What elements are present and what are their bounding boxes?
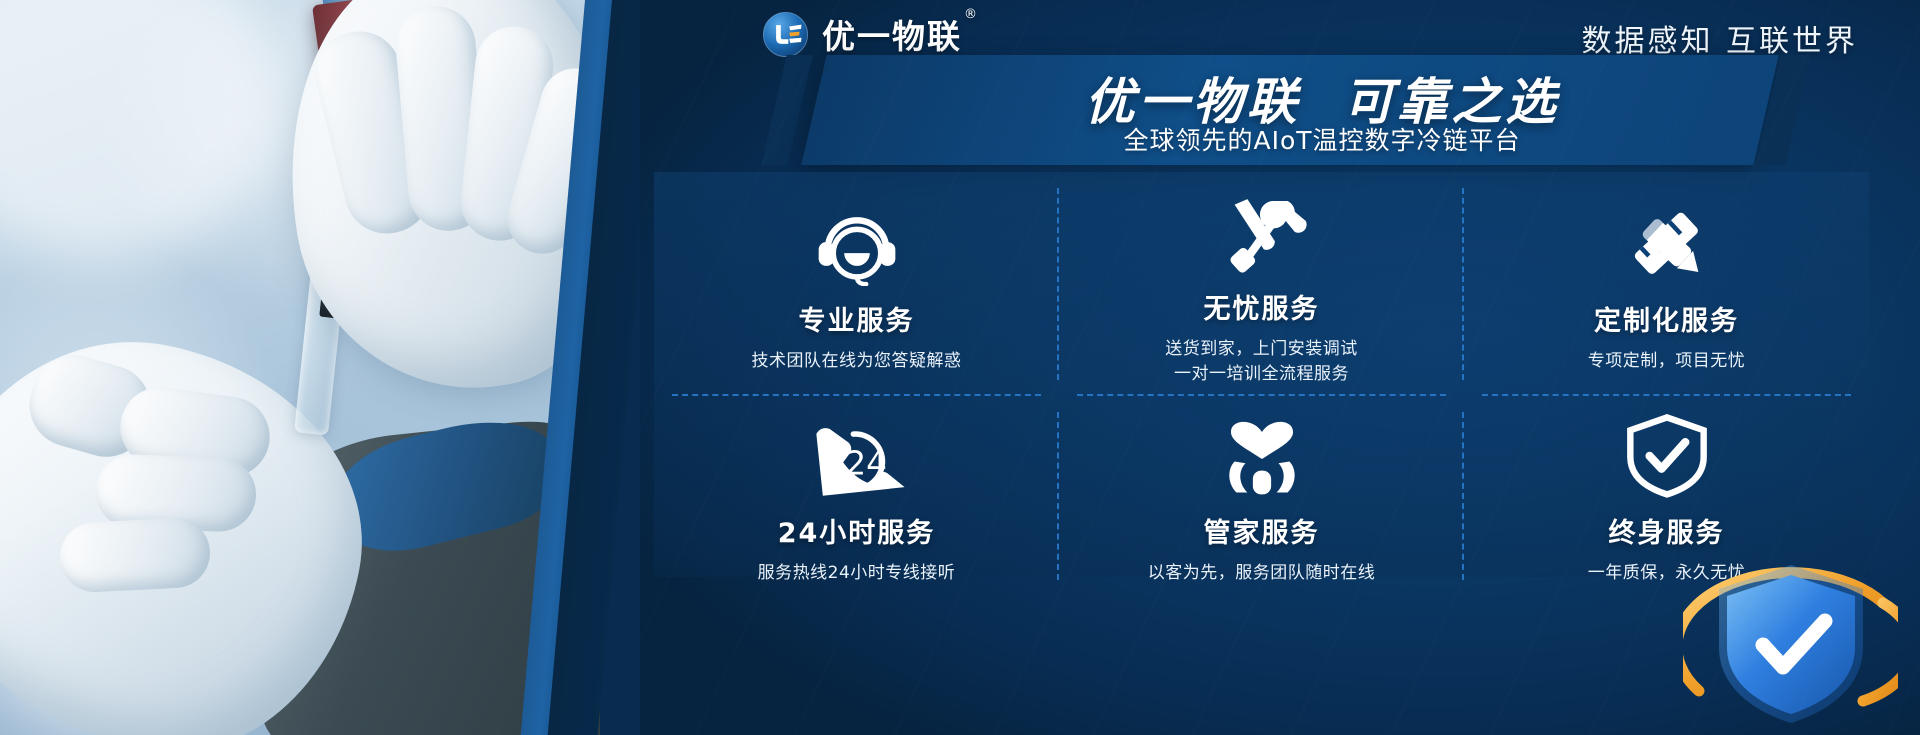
service-desc: 以客为先，服务团队随时在线 [1148,561,1376,586]
service-title: 专业服务 [799,299,915,338]
wrench-screwdriver-icon [1216,178,1308,274]
subheadline-text: 全球领先的AIoT温控数字冷链平台 [872,121,1772,157]
header-slogan: 数据感知 互联世界 [1581,16,1858,60]
syringe-vaccine-photo [0,0,600,735]
brand-name: 优一物联 ® [822,10,962,58]
headline-banner: 优一物联 可靠之选 全球领先的AIoT温控数字冷链平台 [800,55,1810,165]
photo-bokeh-blob [0,0,280,260]
service-desc: 送货到家，上门安装调试 一对一培训全流程服务 [1165,337,1358,386]
heart-in-hands-icon [1216,402,1308,498]
registered-mark: ® [964,7,979,22]
phone-24h-icon: 24 [809,402,905,498]
service-card-customized[interactable]: 定制化服务 专项定制，项目无忧 [1464,172,1869,396]
brand-logo[interactable]: 优一物联 ® [762,10,962,58]
shield-check-icon [1623,402,1711,498]
headset-support-icon [811,190,903,286]
service-desc: 服务热线24小时专线接听 [758,561,956,586]
service-desc: 专项定制，项目无忧 [1588,349,1746,374]
promo-banner: 优一物联 ® 数据感知 互联世界 优一物联 可靠之选 全球领先的AIoT温控数字… [0,0,1920,735]
svg-text:24: 24 [845,444,887,483]
content-panel: 优一物联 ® 数据感知 互联世界 优一物联 可靠之选 全球领先的AIoT温控数字… [640,0,1920,735]
service-card-professional[interactable]: 专业服务 技术团队在线为您答疑解惑 [654,172,1059,396]
photo-finger [58,516,211,594]
service-title: 管家服务 [1204,511,1320,550]
service-desc: 技术团队在线为您答疑解惑 [752,349,962,374]
brand-name-text: 优一物联 [822,17,962,56]
service-card-butler[interactable]: 管家服务 以客为先，服务团队随时在线 [1059,396,1464,596]
services-grid: 专业服务 技术团队在线为您答疑解惑 无忧服务 送货到家，上门安装调试 一对一培训… [654,172,1869,577]
shield-check-badge-icon [1683,541,1898,735]
ruler-pencil-icon [1621,190,1713,286]
service-title: 定制化服务 [1594,299,1739,338]
service-title: 24小时服务 [778,511,936,550]
service-title: 无忧服务 [1204,287,1320,326]
service-card-24h[interactable]: 24 24小时服务 服务热线24小时专线接听 [654,396,1059,596]
le-circle-logo-icon [762,11,809,58]
service-card-worryfree[interactable]: 无忧服务 送货到家，上门安装调试 一对一培训全流程服务 [1059,172,1464,396]
